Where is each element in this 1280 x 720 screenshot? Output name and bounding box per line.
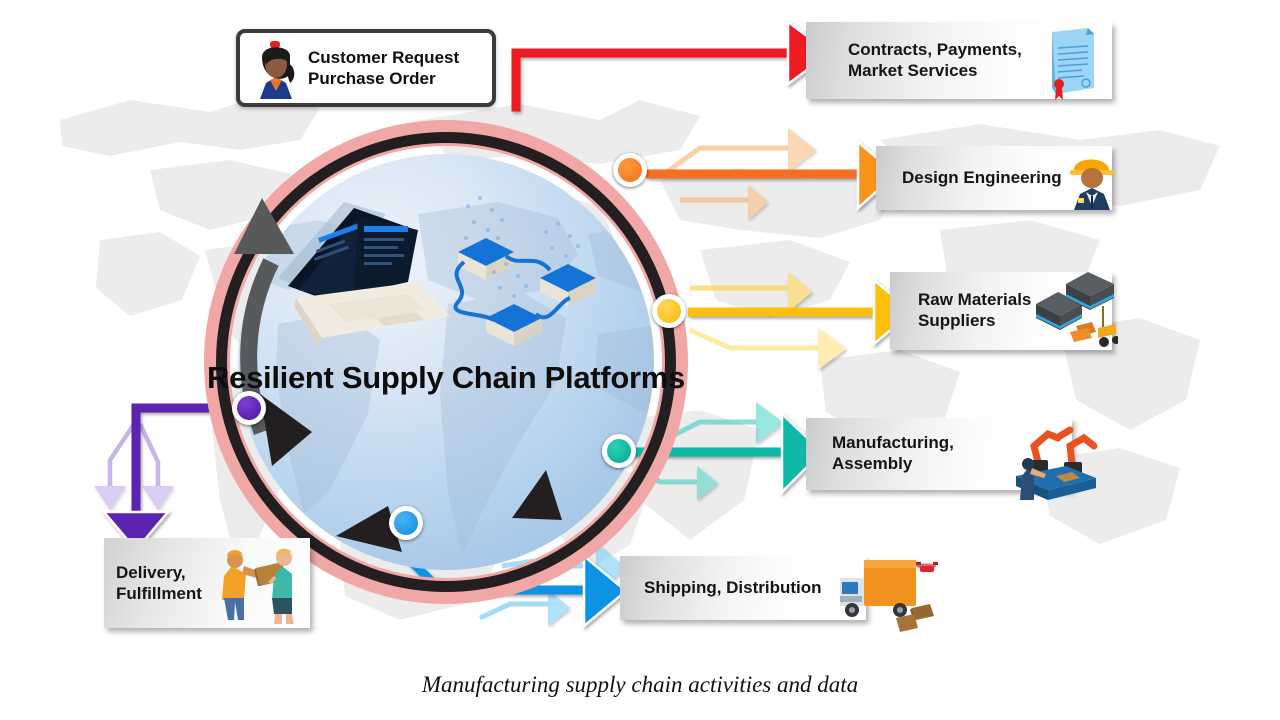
customer-request-box[interactable]: Customer Request Purchase Order: [236, 29, 496, 107]
certificate-document-icon: [1042, 26, 1104, 102]
label-raw-materials-text: Raw Materials Suppliers: [918, 290, 1031, 331]
raw-materials-node[interactable]: [652, 294, 686, 328]
label-design-text: Design Engineering: [902, 168, 1062, 189]
label-shipping-text: Shipping, Distribution: [644, 578, 822, 599]
manufacturing-node[interactable]: [602, 434, 636, 468]
label-manufacturing[interactable]: Manufacturing, Assembly: [806, 418, 1072, 490]
warehouse-forklift-icon: [1026, 272, 1118, 350]
center-title: Resilient Supply Chain Platforms: [196, 360, 696, 397]
label-contracts-text: Contracts, Payments, Market Services: [848, 40, 1022, 81]
label-shipping[interactable]: Shipping, Distribution: [620, 556, 866, 620]
shipping-node[interactable]: [389, 506, 423, 540]
engineer-hardhat-icon: [1062, 148, 1122, 210]
delivery-truck-drone-icon: [838, 550, 948, 636]
design-node[interactable]: [613, 153, 647, 187]
delivery-node[interactable]: [232, 391, 266, 425]
label-raw-materials[interactable]: Raw Materials Suppliers: [890, 272, 1112, 350]
label-delivery-text: Delivery, Fulfillment: [116, 562, 202, 605]
figure-caption: Manufacturing supply chain activities an…: [0, 672, 1280, 698]
label-design[interactable]: Design Engineering: [876, 146, 1112, 210]
woman-avatar-icon: [248, 37, 302, 99]
arrow-contracts: [516, 22, 830, 107]
customer-request-label: Customer Request Purchase Order: [308, 47, 459, 90]
arrow-raw-materials: [688, 272, 912, 370]
label-delivery[interactable]: Delivery, Fulfillment: [104, 538, 310, 628]
laptop-dashboard-icon: [258, 186, 608, 366]
courier-handoff-icon: [208, 544, 308, 624]
diagram-canvas: Resilient Supply Chain Platforms Custome…: [0, 0, 1280, 720]
label-contracts[interactable]: Contracts, Payments, Market Services: [806, 22, 1112, 99]
label-manufacturing-text: Manufacturing, Assembly: [832, 433, 954, 474]
robot-arm-assembly-icon: [1004, 424, 1102, 504]
